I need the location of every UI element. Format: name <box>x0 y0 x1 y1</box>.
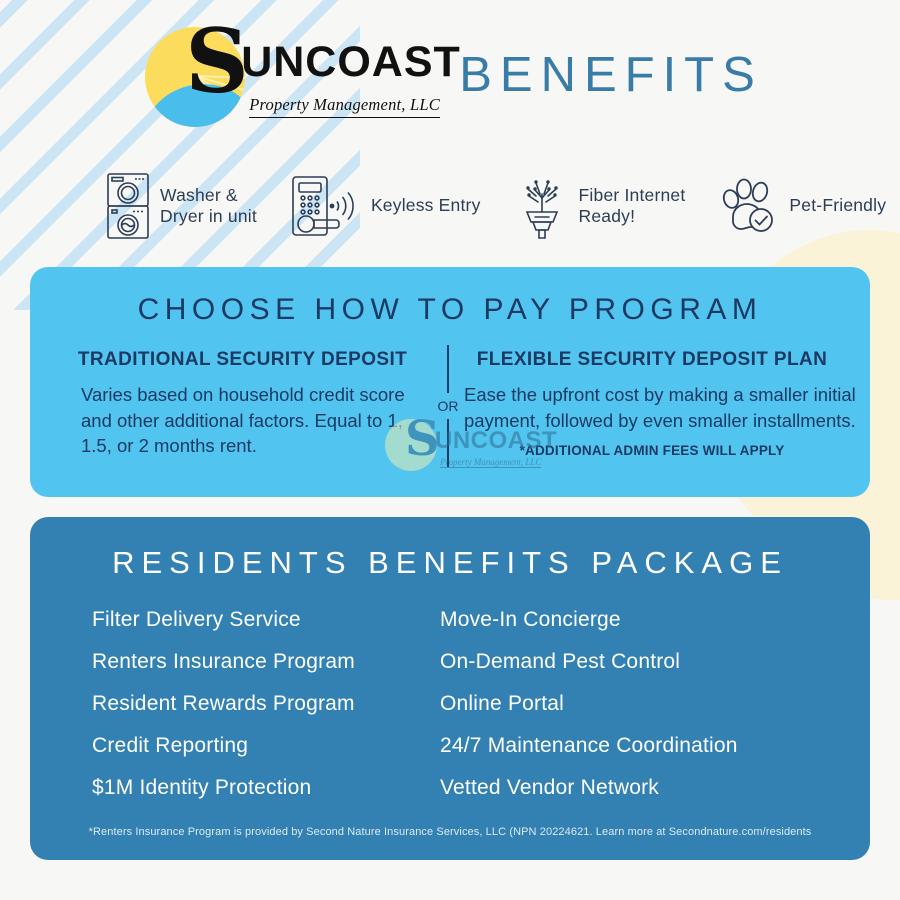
residents-benefits-package-panel: RESIDENTS BENEFITS PACKAGE Filter Delive… <box>30 517 870 860</box>
divider-line-bottom <box>447 419 449 467</box>
logo-subtitle: Property Management, LLC <box>249 95 440 118</box>
rbp-columns: Filter Delivery Service Renters Insuranc… <box>30 609 870 819</box>
keyless-entry-icon <box>290 174 362 238</box>
flexible-deposit-body: Ease the upfront cost by making a smalle… <box>448 382 856 433</box>
list-item: Renters Insurance Program <box>92 651 420 672</box>
flexible-deposit-column: FLEXIBLE SECURITY DEPOSIT PLAN Ease the … <box>430 349 870 459</box>
paw-check-icon <box>718 175 780 237</box>
fiber-internet-icon <box>514 172 570 240</box>
list-item: $1M Identity Protection <box>92 777 420 798</box>
amenity-row: Washer & Dryer in unit Keyless Entry <box>0 158 900 253</box>
logo-s-letter: S <box>185 17 249 105</box>
amenity-fiber-internet: Fiber Internet Ready! <box>514 172 686 240</box>
logo-wordmark: UNCOAST <box>241 41 461 84</box>
list-item: On-Demand Pest Control <box>440 651 870 672</box>
amenity-pet-friendly: Pet-Friendly <box>718 175 886 237</box>
list-item: Resident Rewards Program <box>92 693 420 714</box>
flexible-deposit-heading: FLEXIBLE SECURITY DEPOSIT PLAN <box>448 349 856 371</box>
list-item: Credit Reporting <box>92 735 420 756</box>
or-divider: OR <box>431 345 465 485</box>
list-item: Vetted Vendor Network <box>440 777 870 798</box>
rbp-column-left: Filter Delivery Service Renters Insuranc… <box>30 609 420 819</box>
amenity-washer-dryer: Washer & Dryer in unit <box>105 172 257 240</box>
pay-panel-columns: TRADITIONAL SECURITY DEPOSIT Varies base… <box>30 349 870 459</box>
choose-how-to-pay-panel: CHOOSE HOW TO PAY PROGRAM TRADITIONAL SE… <box>30 267 870 497</box>
list-item: Move-In Concierge <box>440 609 870 630</box>
divider-line-top <box>447 345 449 393</box>
washer-dryer-icon <box>105 172 151 240</box>
suncoast-logo: S UNCOAST Property Management, LLC <box>137 15 437 135</box>
rbp-footnote: *Renters Insurance Program is provided b… <box>30 826 870 838</box>
amenity-label: Keyless Entry <box>371 195 481 216</box>
header: S UNCOAST Property Management, LLC BENEF… <box>0 0 900 150</box>
list-item: Filter Delivery Service <box>92 609 420 630</box>
traditional-deposit-body: Varies based on household credit score a… <box>55 382 430 459</box>
rbp-title: RESIDENTS BENEFITS PACKAGE <box>30 517 870 581</box>
pay-panel-title: CHOOSE HOW TO PAY PROGRAM <box>30 267 870 327</box>
rbp-column-right: Move-In Concierge On-Demand Pest Control… <box>420 609 870 819</box>
amenity-label: Fiber Internet Ready! <box>579 185 686 226</box>
amenity-label: Washer & Dryer in unit <box>160 185 257 226</box>
list-item: Online Portal <box>440 693 870 714</box>
list-item: 24/7 Maintenance Coordination <box>440 735 870 756</box>
amenity-label: Pet-Friendly <box>789 195 886 216</box>
page-title: BENEFITS <box>459 47 763 103</box>
traditional-deposit-heading: TRADITIONAL SECURITY DEPOSIT <box>55 349 430 371</box>
admin-fees-note: *ADDITIONAL ADMIN FEES WILL APPLY <box>448 443 856 458</box>
amenity-keyless-entry: Keyless Entry <box>290 174 481 238</box>
divider-label: OR <box>438 393 459 419</box>
traditional-deposit-column: TRADITIONAL SECURITY DEPOSIT Varies base… <box>30 349 430 459</box>
